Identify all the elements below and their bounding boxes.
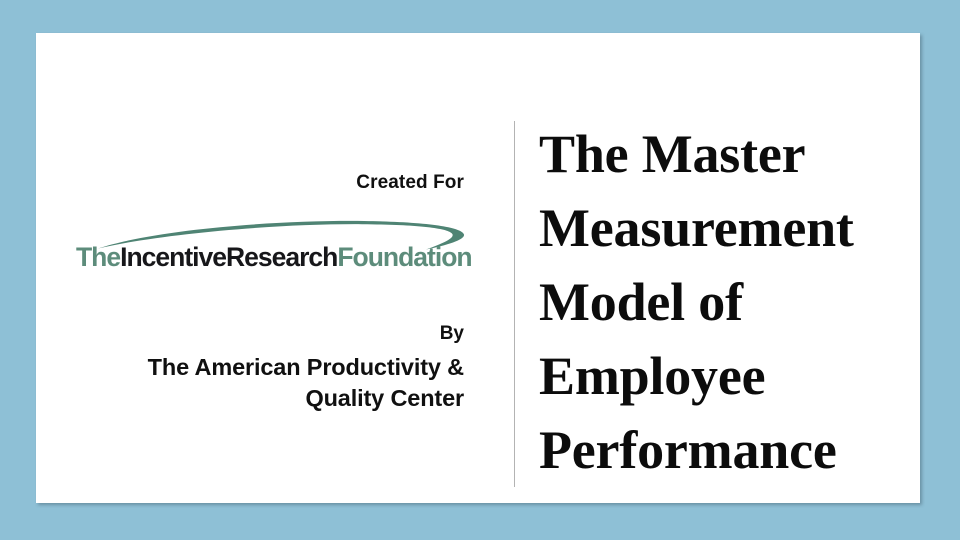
slide-root: Created For TheIncentiveResearchFoundati… (0, 0, 960, 540)
title-line-3: Model of (539, 265, 934, 339)
author-name-line-2: Quality Center (76, 383, 464, 414)
author-name: The American Productivity & Quality Cent… (76, 352, 466, 414)
irf-wordmark: TheIncentiveResearchFoundation (76, 244, 466, 271)
irf-wordmark-the: The (76, 242, 120, 272)
slide-title: The Master Measurement Model of Employee… (539, 117, 934, 487)
credits-column: Created For TheIncentiveResearchFoundati… (76, 173, 466, 414)
column-divider (514, 121, 515, 487)
slide-card: Created For TheIncentiveResearchFoundati… (36, 33, 920, 503)
created-for-label: Created For (76, 173, 466, 194)
irf-logo: TheIncentiveResearchFoundation (76, 218, 466, 284)
irf-wordmark-incentive-research: IncentiveResearch (120, 242, 337, 272)
title-line-2: Measurement (539, 191, 934, 265)
title-line-1: The Master (539, 117, 934, 191)
by-label: By (76, 324, 466, 345)
title-line-4: Employee (539, 339, 934, 413)
author-name-line-1: The American Productivity & (76, 352, 464, 383)
title-line-5: Performance (539, 413, 934, 487)
irf-wordmark-foundation: Foundation (337, 242, 471, 272)
